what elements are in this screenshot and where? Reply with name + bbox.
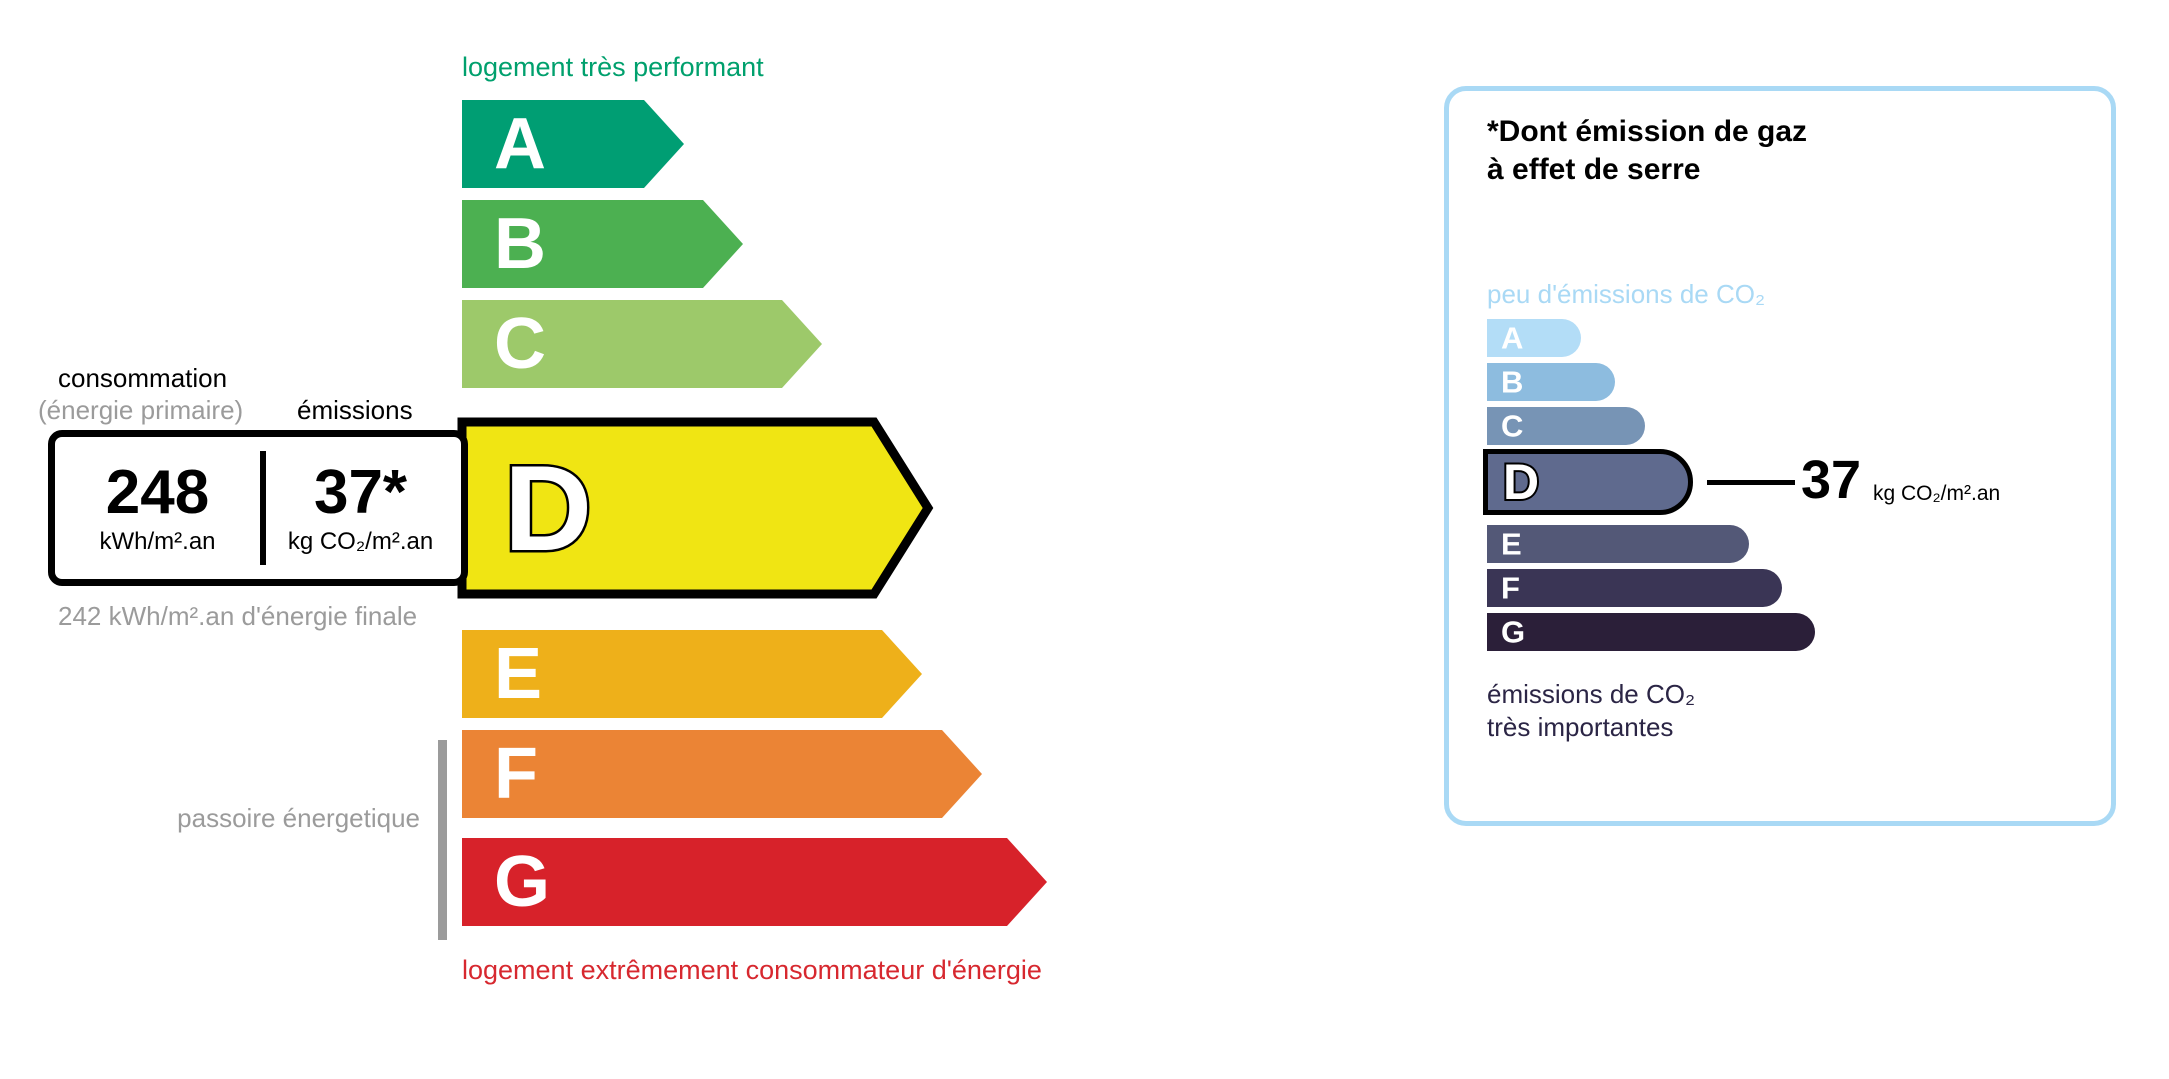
co2-leader-line [1707, 480, 1795, 485]
energy-bar-letter-d: D [504, 447, 592, 569]
co2-bar-letter-a: A [1501, 323, 1523, 354]
co2-top-caption: peu d'émissions de CO₂ [1487, 279, 1765, 310]
passoire-energetique-bracket [438, 740, 447, 940]
co2-bar-row-g: G [1487, 613, 1815, 651]
co2-bar-letter-f: F [1501, 573, 1520, 604]
energy-performance-chart: logement très performant A B C [0, 0, 1400, 1079]
co2-bottom-caption: émissions de CO₂ très importantes [1487, 678, 1695, 743]
label-consommation: consommation [58, 363, 227, 394]
co2-bar-letter-g: G [1501, 617, 1525, 648]
co2-panel-title: *Dont émission de gaz à effet de serre [1487, 113, 1807, 188]
label-passoire-energetique: passoire énergetique [150, 802, 420, 836]
emission-value: 37* [314, 462, 407, 524]
co2-bar-row-e: E [1487, 525, 1749, 563]
energy-bar-letter-c: C [494, 308, 546, 380]
co2-bar-row-d-selected: D [1483, 449, 1693, 515]
energy-bar-row-d-selected: D [462, 418, 932, 598]
energy-bar-row-b: B [462, 200, 743, 288]
energy-bar-shape-f [462, 730, 982, 818]
energy-bar-row-f: F [462, 730, 982, 818]
energy-bar-row-e: E [462, 630, 922, 718]
co2-bar-row-f: F [1487, 569, 1782, 607]
consumption-emission-box: 248 kWh/m².an 37* kg CO₂/m².an [48, 430, 468, 586]
co2-bar-shape-g [1487, 613, 1815, 651]
energy-bar-letter-f: F [494, 738, 538, 810]
chart-bottom-caption: logement extrêmement consommateur d'éner… [462, 955, 1042, 986]
co2-value-unit: kg CO₂/m².an [1873, 483, 2000, 504]
co2-bar-letter-c: C [1501, 411, 1523, 442]
consumption-cell: 248 kWh/m².an [55, 437, 260, 579]
co2-bar-letter-e: E [1501, 529, 1522, 560]
label-final-energy: 242 kWh/m².an d'énergie finale [58, 600, 417, 634]
energy-bar-letter-e: E [494, 638, 542, 710]
energy-bar-row-c: C [462, 300, 822, 388]
emission-unit: kg CO₂/m².an [288, 530, 433, 554]
chart-top-caption: logement très performant [462, 52, 764, 83]
energy-bar-row-g: G [462, 838, 1047, 926]
energy-bar-letter-a: A [494, 108, 546, 180]
label-energie-primaire: (énergie primaire) [38, 395, 243, 426]
consumption-unit: kWh/m².an [100, 530, 216, 554]
energy-bar-letter-b: B [494, 208, 546, 280]
consumption-value: 248 [106, 462, 209, 524]
emission-cell: 37* kg CO₂/m².an [260, 437, 461, 579]
label-emissions: émissions [297, 395, 413, 426]
co2-bar-shape-f [1487, 569, 1782, 607]
co2-bar-row-a: A [1487, 319, 1581, 357]
co2-bar-row-c: C [1487, 407, 1645, 445]
co2-bar-row-b: B [1487, 363, 1615, 401]
co2-bar-letter-b: B [1501, 367, 1523, 398]
co2-emissions-panel: *Dont émission de gaz à effet de serre p… [1444, 86, 2116, 826]
co2-bar-letter-d: D [1503, 457, 1539, 507]
energy-bar-letter-g: G [494, 846, 550, 918]
energy-bar-row-a: A [462, 100, 684, 188]
co2-value: 37 [1801, 453, 1861, 507]
co2-bar-shape-e [1487, 525, 1749, 563]
